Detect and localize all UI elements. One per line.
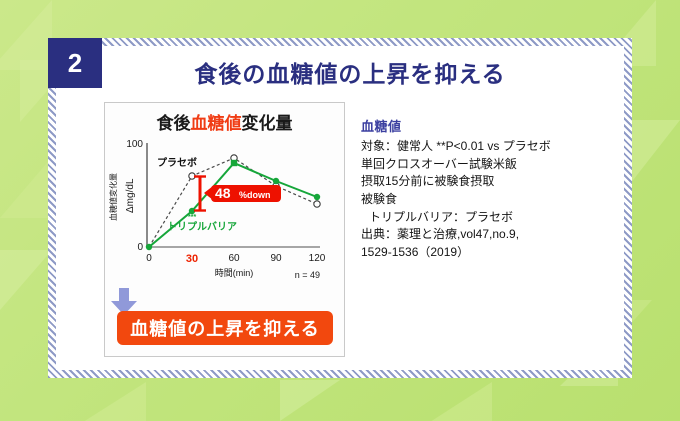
background-triangle-7: [80, 382, 146, 421]
notes-heading: 血糖値: [361, 116, 611, 135]
chart-title-post: 変化量: [242, 114, 293, 133]
data-point-placebo-120: [314, 201, 320, 207]
sample-size-note: n = 49: [295, 270, 320, 280]
y-tick-100: 100: [126, 139, 143, 150]
x-tick-90: 90: [270, 253, 282, 264]
slide-number-badge: 2: [48, 38, 102, 88]
note-line-source-1: 出典：薬理と治療,vol47,no.9,: [361, 226, 611, 244]
y-tick-0: 0: [137, 242, 143, 253]
note-line-design: 単回クロスオーバー試験米飯: [361, 156, 611, 174]
y-axis-unit: Δmg/dL: [125, 178, 136, 213]
result-banner: 血糖値の上昇を抑える: [117, 311, 333, 345]
background-triangle-9: [430, 382, 492, 421]
significance-marker: ***: [188, 214, 196, 221]
background-triangle-4: [0, 250, 52, 310]
note-line-timing: 摂取15分前に被験食摂取: [361, 173, 611, 191]
page-title: 食後の血糖値の上昇を抑える: [110, 55, 590, 89]
reduction-value: 48: [215, 185, 231, 201]
x-tick-30: 30: [186, 253, 198, 265]
note-line-testfood: 被験食: [361, 191, 611, 209]
x-tick-120: 120: [309, 253, 326, 264]
chart-plot-area: 100 0 血糖値変化量 Δmg/dL 0 30 60 90 120 時間(mi…: [105, 135, 346, 285]
x-tick-0: 0: [146, 253, 152, 264]
slide-root: 2 食後の血糖値の上昇を抑える 食後血糖値変化量 100 0 血糖値変化量 Δm…: [0, 0, 680, 421]
chart-title-pre: 食後: [157, 114, 191, 133]
y-axis-title: 血糖値変化量: [108, 173, 118, 221]
note-line-source-2: 1529-1536（2019）: [361, 244, 611, 262]
reduction-callout: 48 %down: [204, 185, 281, 202]
chart-title-highlight: 血糖値: [191, 114, 242, 133]
data-point-triple-barrier-60: [231, 160, 237, 166]
x-tick-60: 60: [228, 253, 240, 264]
data-point-triple-barrier-90: [273, 178, 279, 184]
series-line-placebo: [149, 158, 317, 247]
reduction-unit: %down: [239, 190, 271, 200]
note-line-comparison: トリプルバリア：プラセボ: [361, 209, 611, 227]
series-line-triple-barrier: [149, 163, 317, 247]
background-triangle-8: [280, 380, 340, 421]
x-axis-label: 時間(min): [215, 268, 254, 278]
note-line-subject: 対象：健常人 **P<0.01 vs プラセボ: [361, 138, 611, 156]
blood-glucose-line-chart: 100 0 血糖値変化量 Δmg/dL 0 30 60 90 120 時間(mi…: [105, 135, 346, 285]
series-label-placebo: プラセボ: [157, 156, 197, 169]
study-notes: 血糖値 対象：健常人 **P<0.01 vs プラセボ 単回クロスオーバー試験米…: [361, 116, 611, 261]
series-label-triple-barrier: トリプルバリア: [167, 220, 237, 233]
background-triangle-6: [630, 120, 680, 184]
data-point-triple-barrier-120: [314, 194, 320, 200]
data-point-triple-barrier-0: [146, 244, 152, 250]
chart-title: 食後血糖値変化量: [105, 109, 344, 134]
